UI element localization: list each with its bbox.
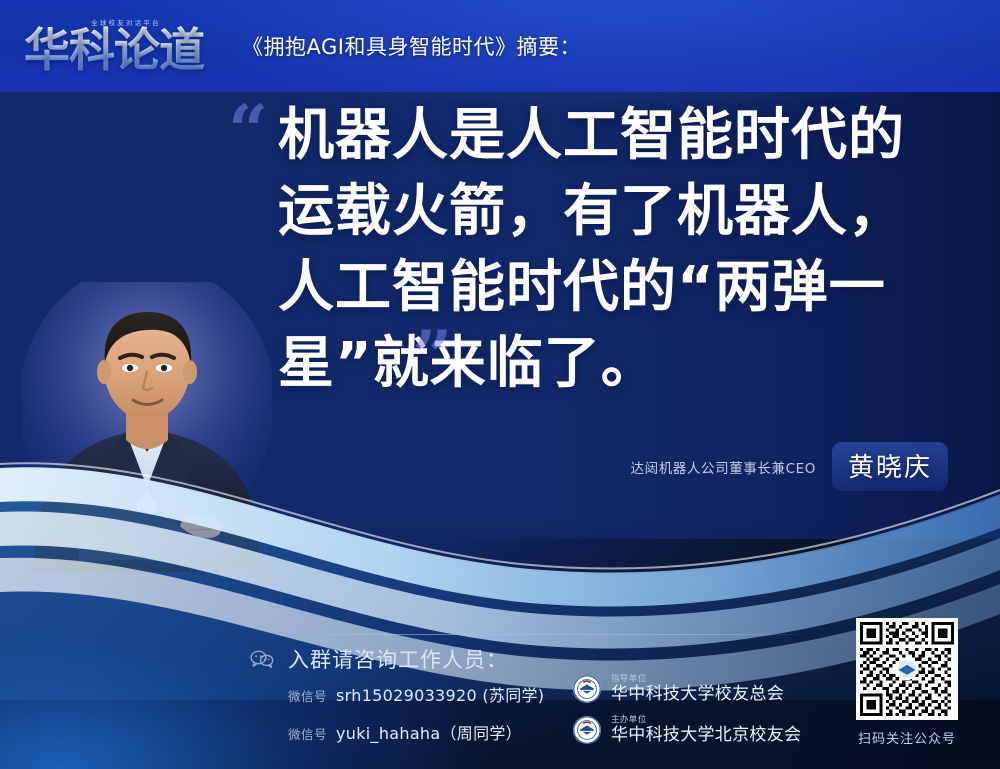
- university-seal-icon: [572, 674, 602, 704]
- contact-value: yuki_hahaha（周同学）: [336, 720, 522, 744]
- quote-open-mark: “: [228, 96, 268, 166]
- organization-name: 华中科技大学校友总会: [611, 686, 784, 704]
- contact-label: 微信号: [288, 724, 327, 743]
- qr-caption: 扫码关注公众号: [842, 728, 972, 747]
- brand-logo[interactable]: 全球校友对话平台 华科论道: [24, 15, 220, 77]
- quote-text: 机器人是人工智能时代的运载火箭，有了机器人，人工智能时代的“两弹一星”就来临了。: [278, 98, 950, 402]
- university-seal-icon: [572, 715, 602, 745]
- poster-canvas: 全球校友对话平台 华科论道 《拥抱AGI和具身智能时代》摘要： “ 机器人是人工…: [0, 0, 1000, 769]
- organization-row: 主办单位 华中科技大学北京校友会: [572, 715, 801, 745]
- qr-block: 扫码关注公众号: [842, 618, 972, 747]
- organization-kind: 主办单位: [611, 716, 801, 725]
- speaker-role: 达闼机器人公司董事长兼CEO: [631, 457, 816, 477]
- footer-divider: [286, 634, 808, 635]
- organization-kind: 指导单位: [611, 675, 784, 684]
- wechat-icon: [250, 650, 274, 668]
- quote-close-mark: ”: [412, 322, 452, 392]
- organization-name: 华中科技大学北京校友会: [611, 727, 801, 745]
- contact-value: srh15029033920 (苏同学): [336, 682, 544, 706]
- contact-label: 微信号: [288, 686, 327, 705]
- logo-wordmark: 华科论道: [24, 24, 220, 76]
- speaker-name: 黄晓庆: [832, 442, 948, 491]
- contact-row[interactable]: 微信号 yuki_hahaha（周同学）: [288, 720, 522, 744]
- qr-code-image[interactable]: [856, 618, 958, 720]
- contact-row[interactable]: 微信号 srh15029033920 (苏同学): [288, 682, 544, 706]
- page-title: 《拥抱AGI和具身智能时代》摘要：: [242, 31, 581, 61]
- organization-row: 指导单位 华中科技大学校友总会: [572, 674, 784, 704]
- poster-header: 全球校友对话平台 华科论道 《拥抱AGI和具身智能时代》摘要：: [0, 0, 1000, 92]
- join-label: 入群请咨询工作人员：: [288, 644, 508, 674]
- join-row: 入群请咨询工作人员：: [250, 644, 508, 674]
- attribution: 达闼机器人公司董事长兼CEO 黄晓庆: [631, 442, 949, 491]
